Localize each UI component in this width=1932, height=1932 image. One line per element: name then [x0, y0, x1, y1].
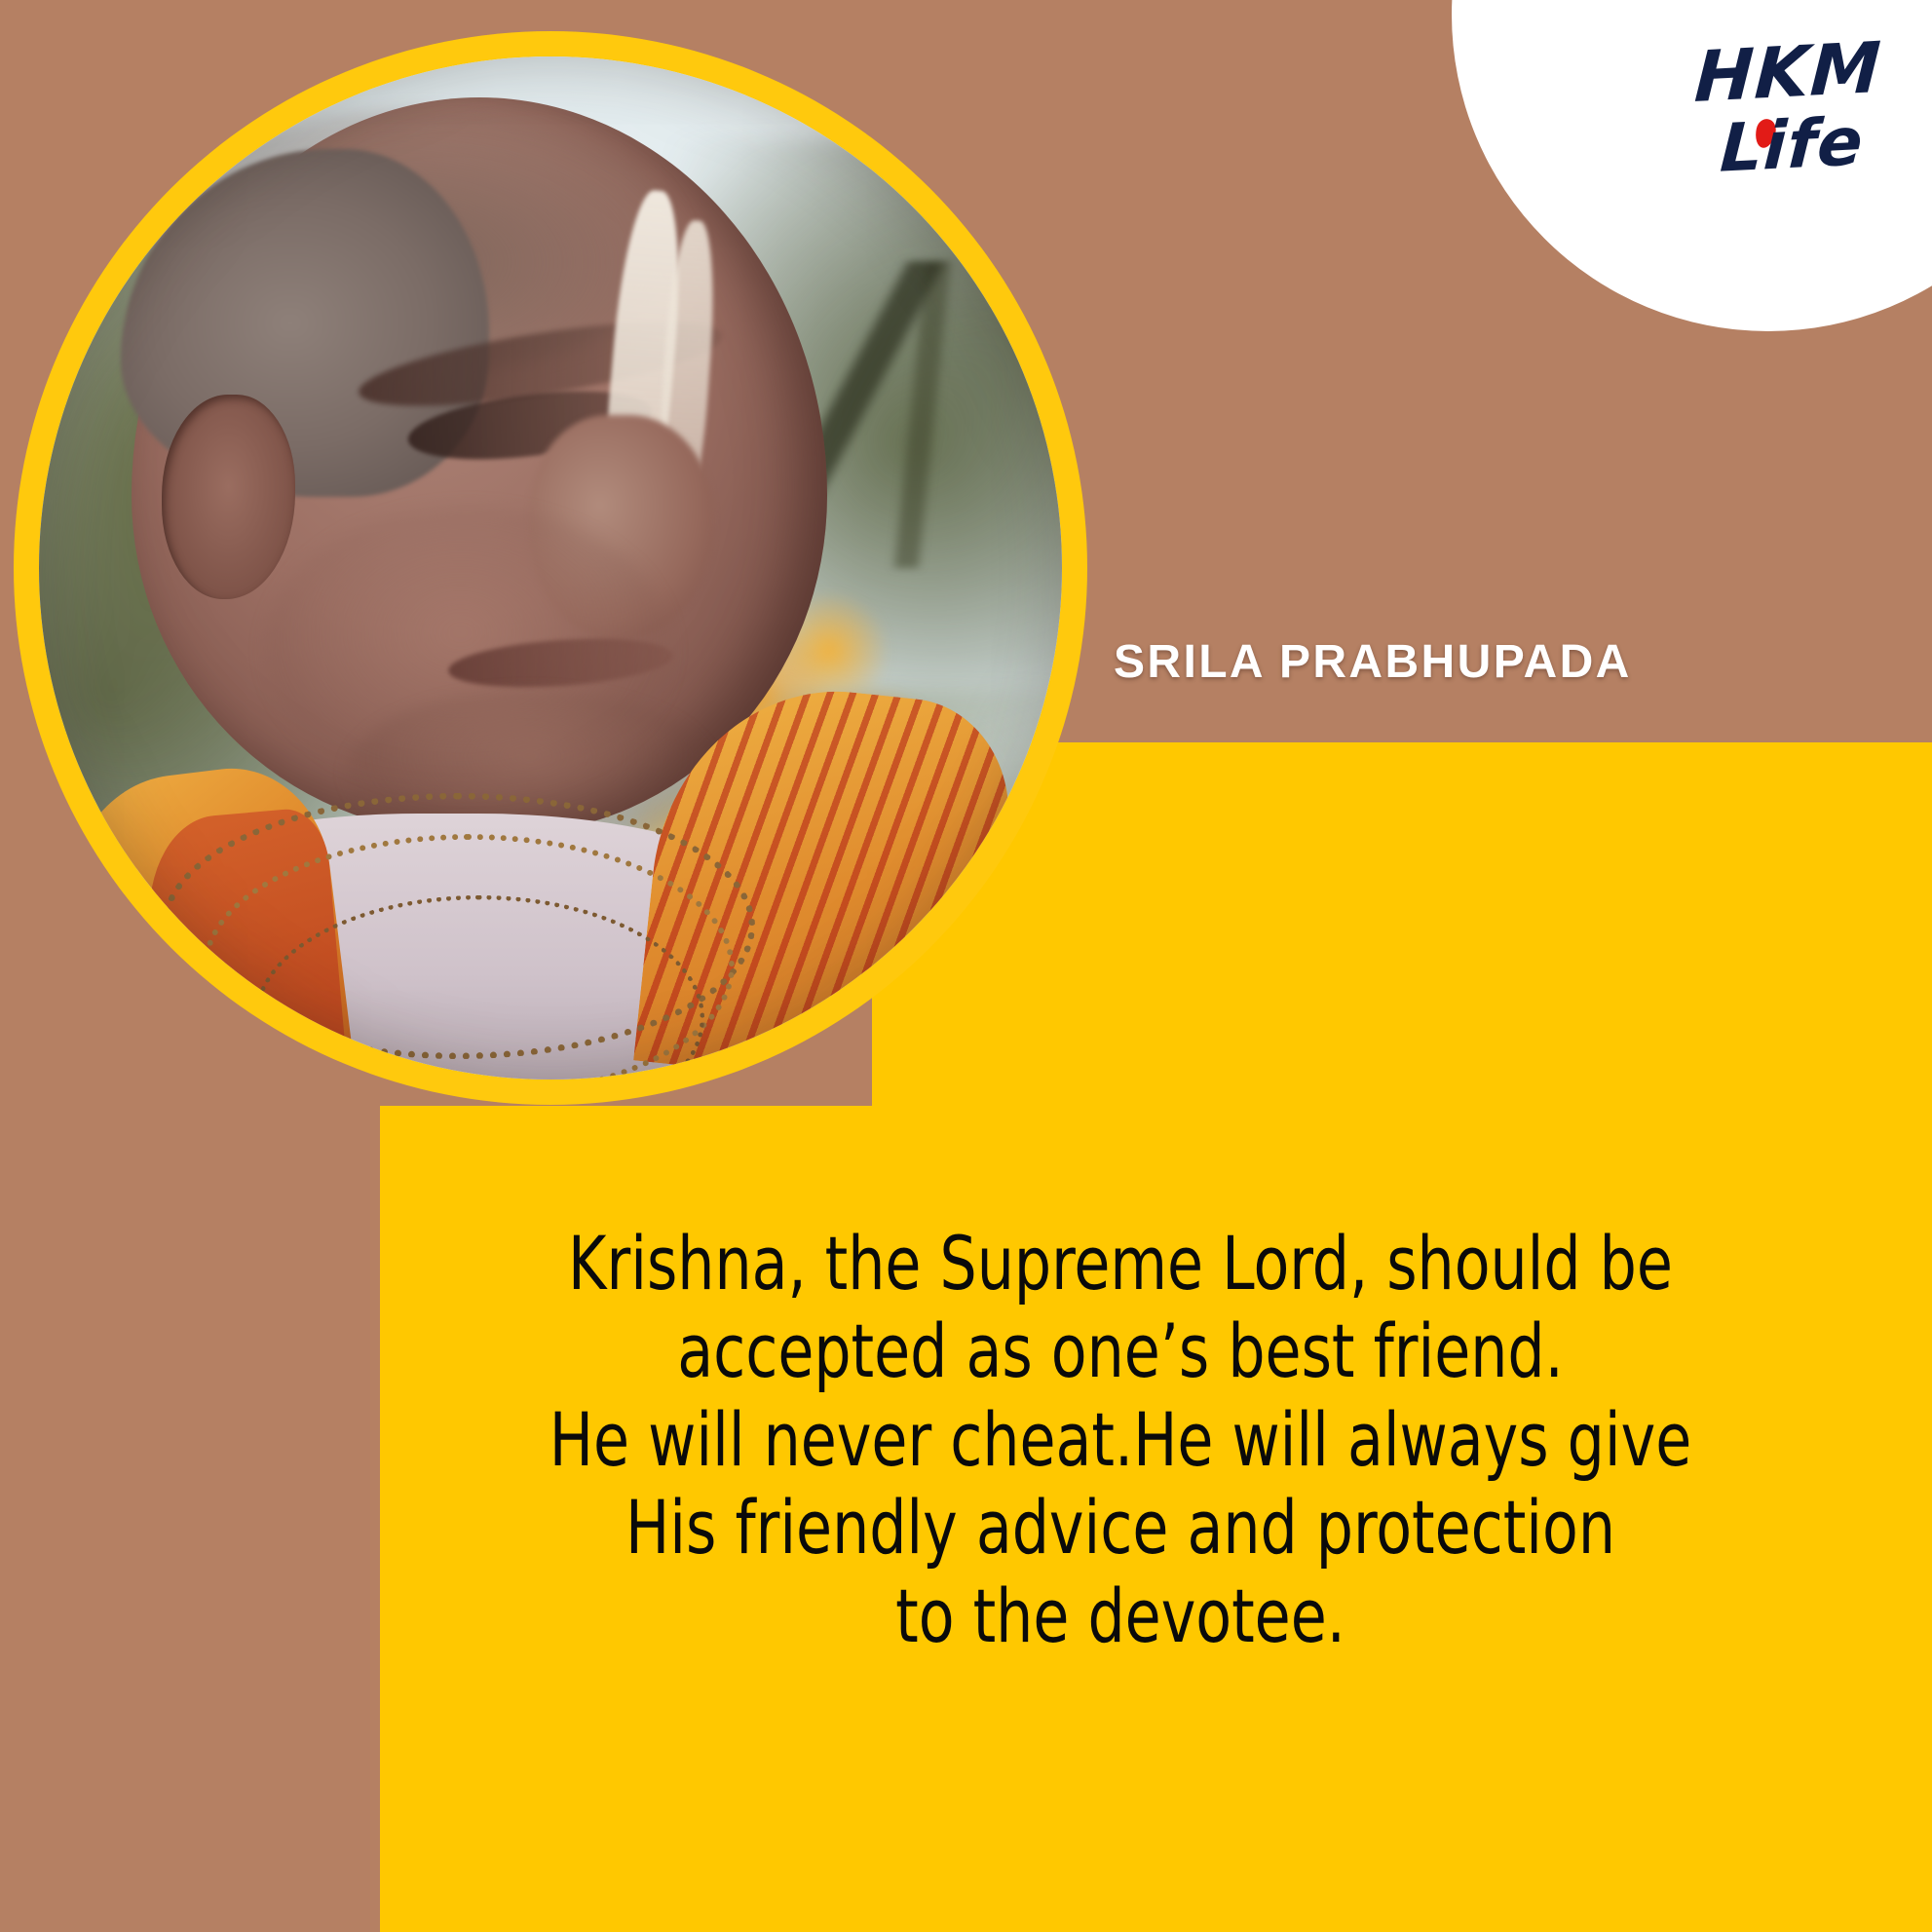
- quote-line: to the devotee.: [477, 1572, 1763, 1660]
- quote-line: Krishna, the Supreme Lord, should be: [477, 1220, 1763, 1307]
- hkm-life-logo-icon[interactable]: HKM Life: [1695, 37, 1900, 242]
- portrait-image: [39, 57, 1062, 1080]
- quote-line: accepted as one’s best friend.: [477, 1307, 1763, 1395]
- logo-life-text: Life: [1719, 109, 1866, 183]
- quote-line: He will never cheat.He will always give: [477, 1396, 1763, 1484]
- attribution-label: SRILA PRABHUPADA: [1114, 635, 1632, 689]
- logo-hkm-text: HKM: [1693, 32, 1883, 112]
- quote-card: HKM Life SRILA PRABHUPADA Krishna, the S…: [0, 0, 1932, 1932]
- portrait-ear: [162, 395, 295, 599]
- quote-text: Krishna, the Supreme Lord, should be acc…: [477, 1220, 1763, 1660]
- quote-line: His friendly advice and protection: [477, 1484, 1763, 1572]
- portrait-frame: [14, 31, 1087, 1105]
